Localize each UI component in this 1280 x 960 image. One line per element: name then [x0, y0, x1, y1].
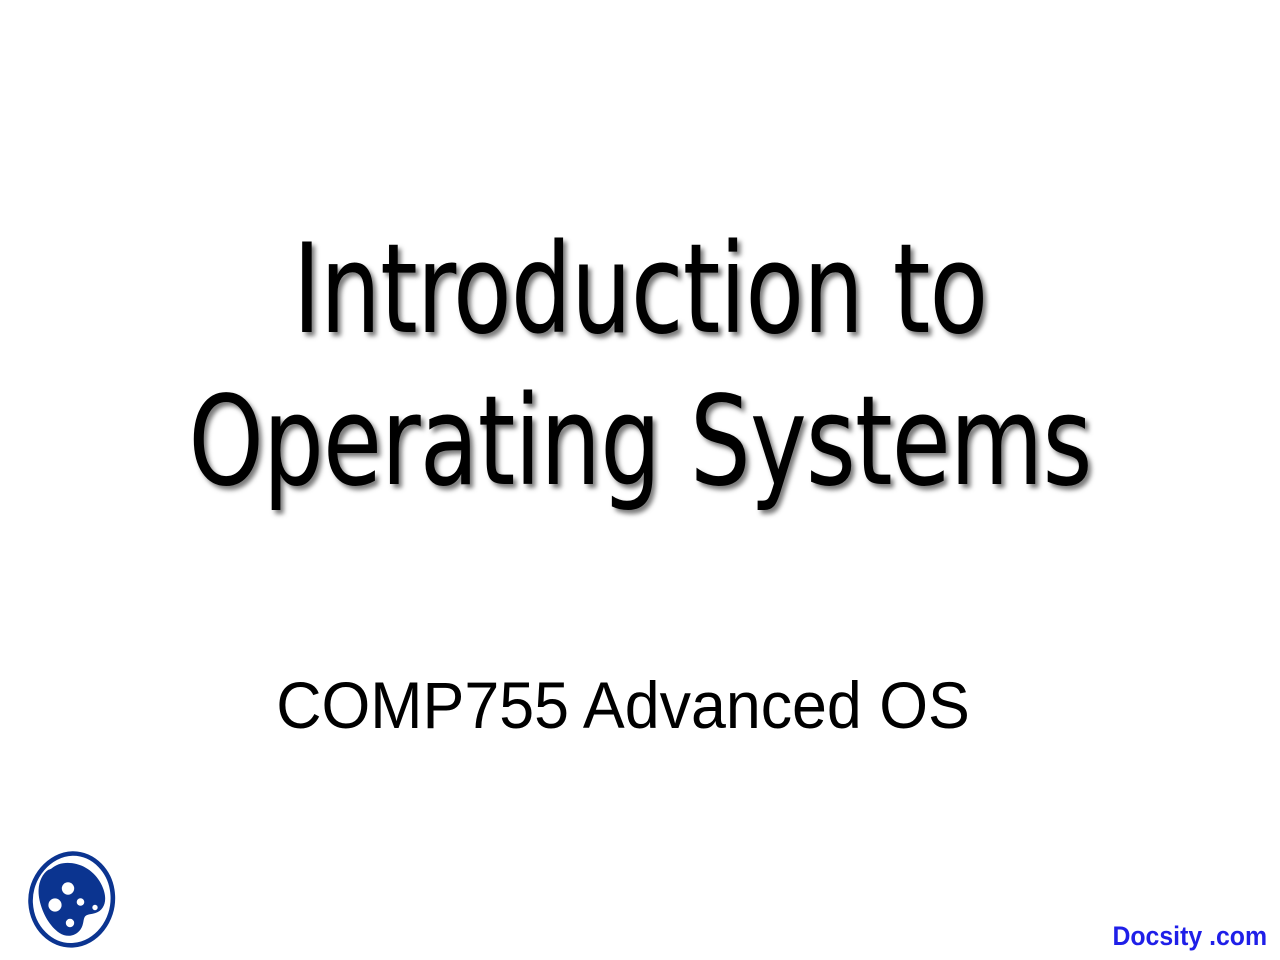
docsity-logo-icon	[24, 850, 120, 950]
title-line-2: Operating Systems	[90, 366, 1191, 518]
title-line-1: Introduction to	[90, 214, 1191, 366]
slide-title: Introduction to Operating Systems	[0, 214, 1280, 518]
presentation-slide: Introduction to Operating Systems COMP75…	[0, 0, 1280, 960]
docsity-watermark: Docsity .com	[1112, 921, 1267, 951]
subtitle-text: COMP755 Advanced OS	[277, 668, 971, 742]
slide-subtitle: COMP755 Advanced OS	[0, 668, 1247, 742]
